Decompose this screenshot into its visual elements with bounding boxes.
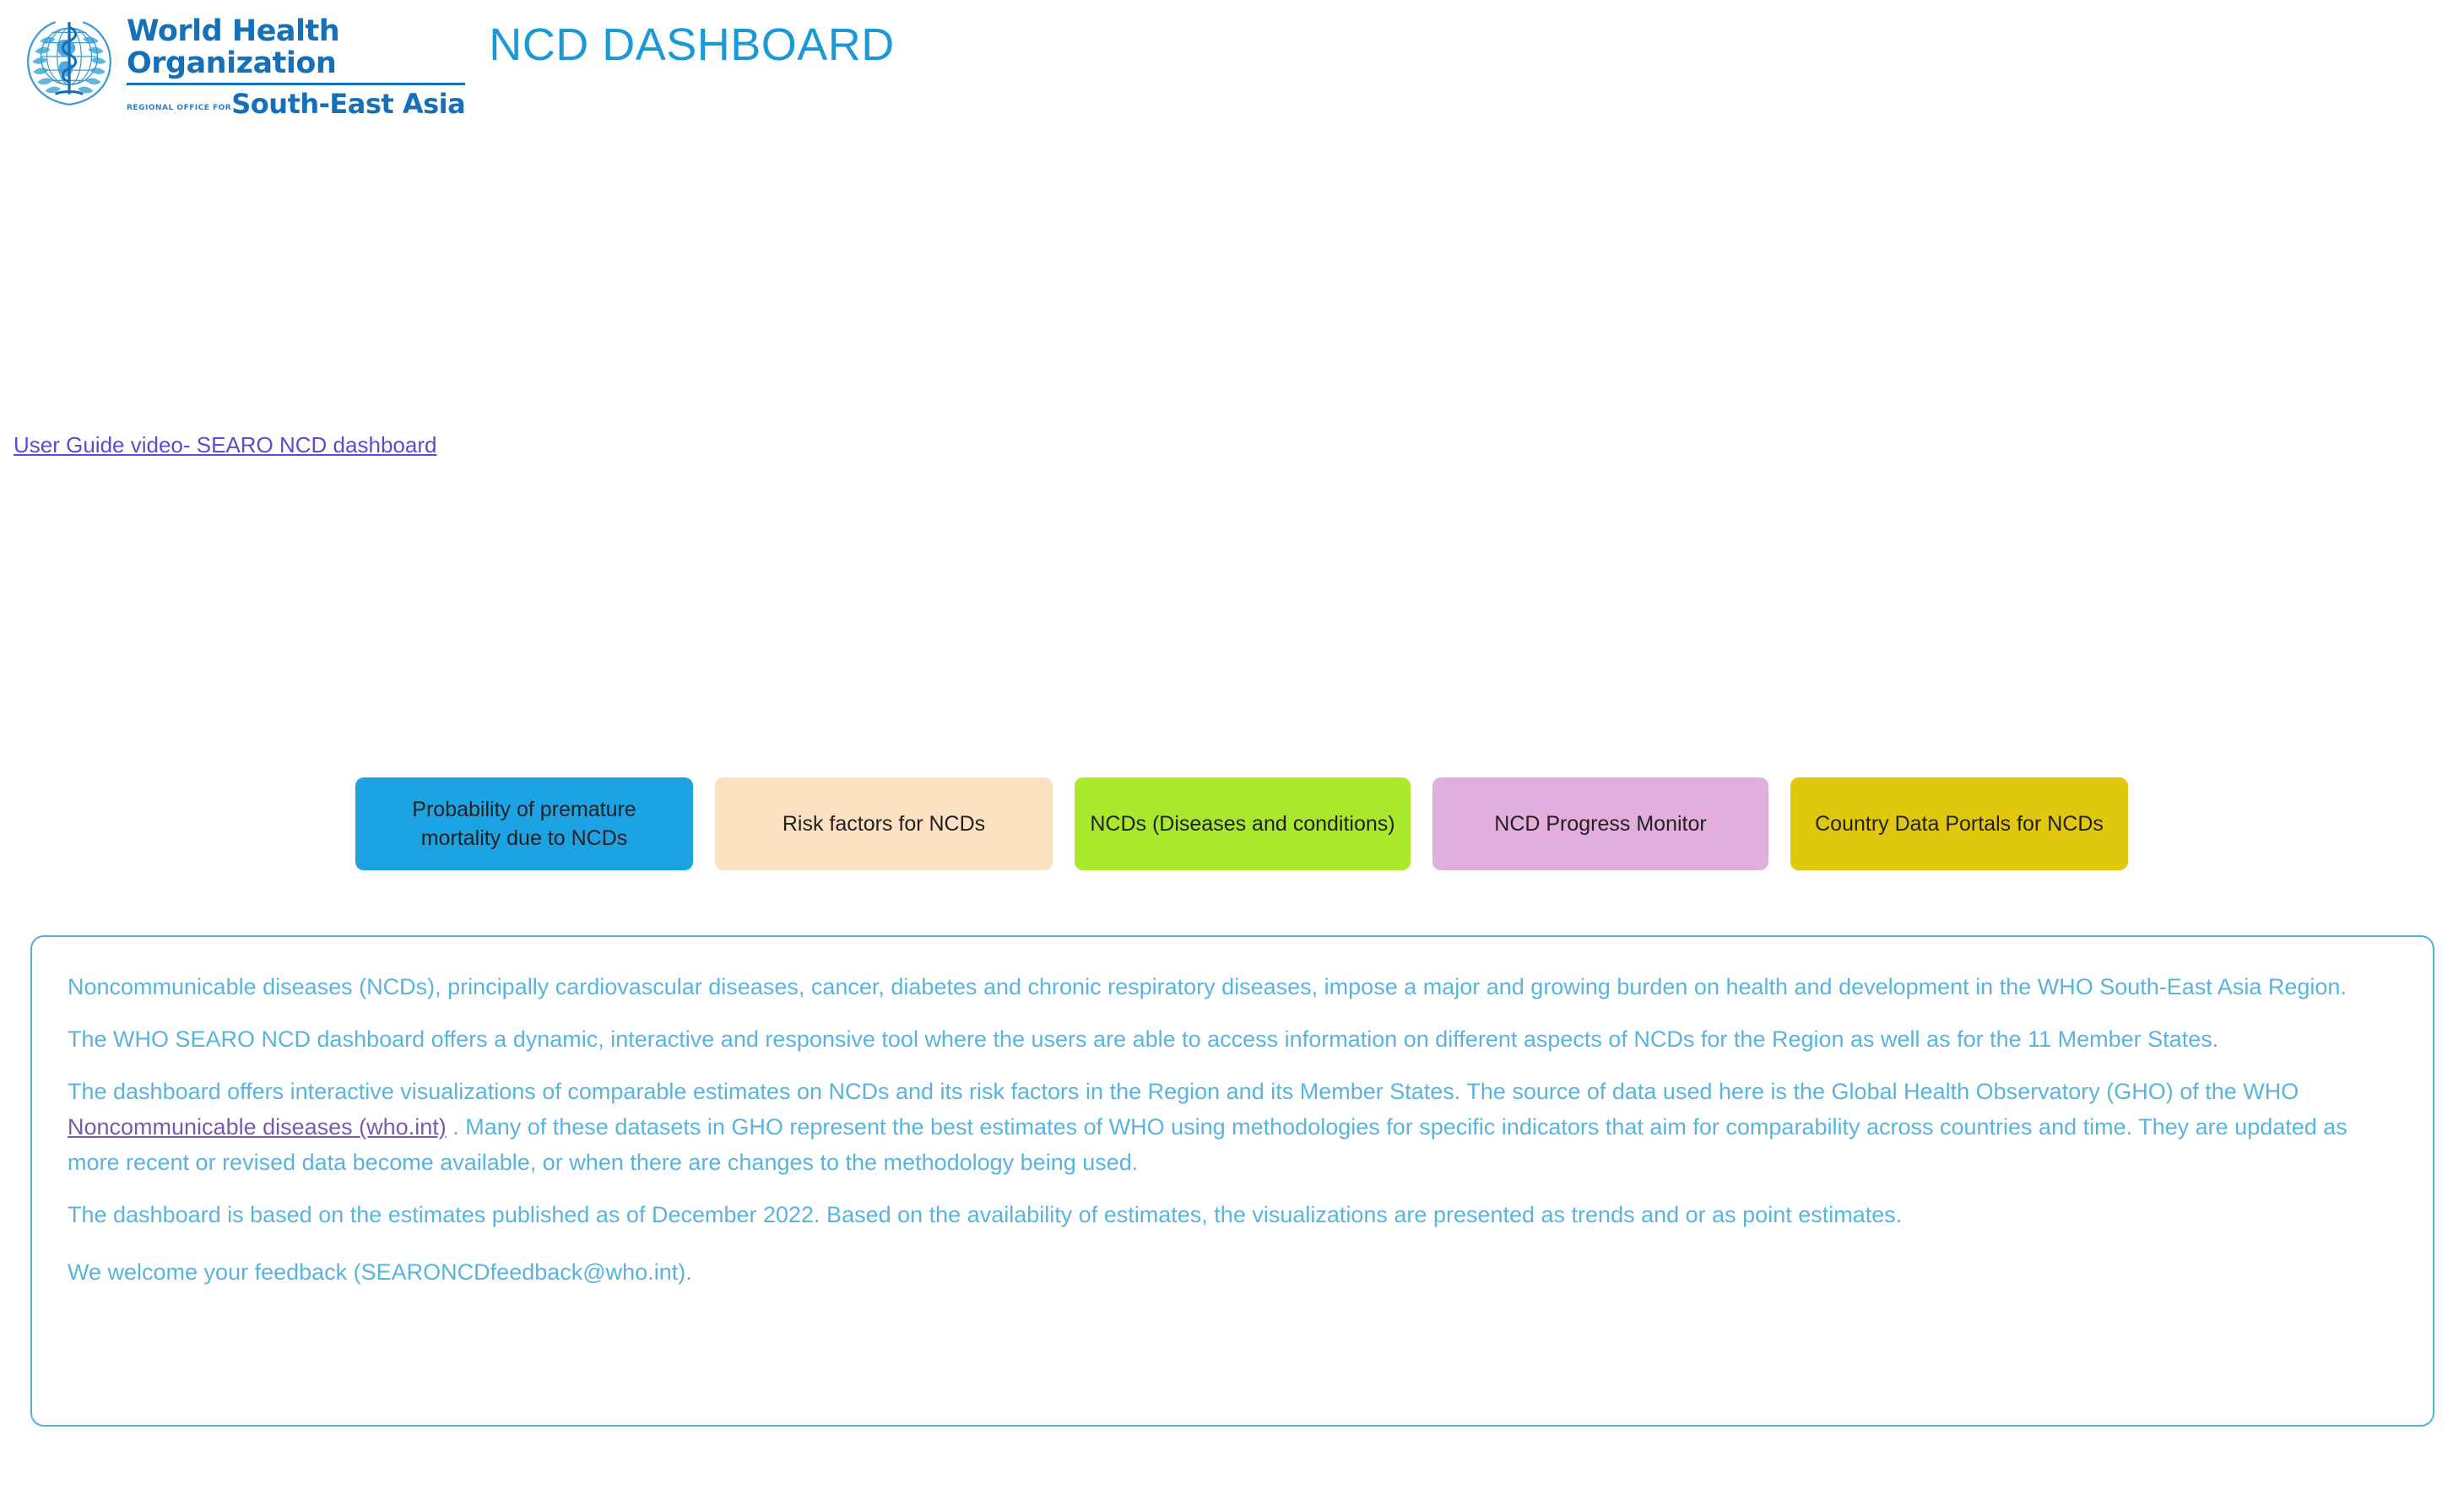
- nav-button-ncds-diseases-conditions-label: NCDs (Diseases and conditions): [1090, 810, 1394, 838]
- who-wordmark-divider: [127, 83, 465, 85]
- nav-button-row: Probability of premature mortality due t…: [355, 777, 2128, 870]
- intro-paragraph-4: The dashboard is based on the estimates …: [68, 1197, 2397, 1232]
- nav-button-ncds-diseases-conditions[interactable]: NCDs (Diseases and conditions): [1075, 777, 1411, 870]
- intro-paragraph-5: We welcome your feedback (SEARONCDfeedba…: [68, 1254, 2397, 1290]
- intro-paragraph-3-text-before: The dashboard offers interactive visuali…: [68, 1079, 2299, 1104]
- who-region-label: South-East Asia: [231, 89, 465, 118]
- who-region-row: REGIONAL OFFICE FOR South-East Asia: [127, 89, 465, 118]
- gho-noncommunicable-diseases-link[interactable]: Noncommunicable diseases (who.int): [68, 1114, 447, 1140]
- intro-paragraph-3: The dashboard offers interactive visuali…: [68, 1074, 2397, 1180]
- nav-button-risk-factors[interactable]: Risk factors for NCDs: [715, 777, 1053, 870]
- who-regional-office-label: REGIONAL OFFICE FOR: [127, 104, 231, 112]
- nav-button-ncd-progress-monitor-label: NCD Progress Monitor: [1494, 810, 1706, 838]
- who-wordmark: World Health Organization REGIONAL OFFIC…: [127, 12, 465, 118]
- page-header: World Health Organization REGIONAL OFFIC…: [0, 0, 895, 117]
- nav-button-country-data-portals[interactable]: Country Data Portals for NCDs: [1790, 777, 2128, 870]
- nav-button-ncd-progress-monitor[interactable]: NCD Progress Monitor: [1432, 777, 1768, 870]
- who-logo: World Health Organization REGIONAL OFFIC…: [15, 12, 465, 117]
- who-wordmark-line1: World Health: [127, 15, 465, 47]
- who-emblem-icon: [15, 12, 123, 115]
- user-guide-row: User Guide video- SEARO NCD dashboard: [14, 432, 436, 458]
- page-title: NCD DASHBOARD: [489, 19, 895, 71]
- user-guide-video-link[interactable]: User Guide video- SEARO NCD dashboard: [14, 432, 436, 458]
- who-wordmark-line2: Organization: [127, 47, 465, 79]
- intro-paragraph-2: The WHO SEARO NCD dashboard offers a dyn…: [68, 1021, 2397, 1057]
- nav-button-risk-factors-label: Risk factors for NCDs: [783, 810, 985, 838]
- nav-button-premature-mortality-label: Probability of premature mortality due t…: [371, 795, 678, 853]
- intro-description-card: Noncommunicable diseases (NCDs), princip…: [30, 935, 2434, 1427]
- intro-paragraph-1: Noncommunicable diseases (NCDs), princip…: [68, 969, 2397, 1005]
- nav-button-premature-mortality[interactable]: Probability of premature mortality due t…: [355, 777, 693, 870]
- nav-button-country-data-portals-label: Country Data Portals for NCDs: [1815, 810, 2104, 838]
